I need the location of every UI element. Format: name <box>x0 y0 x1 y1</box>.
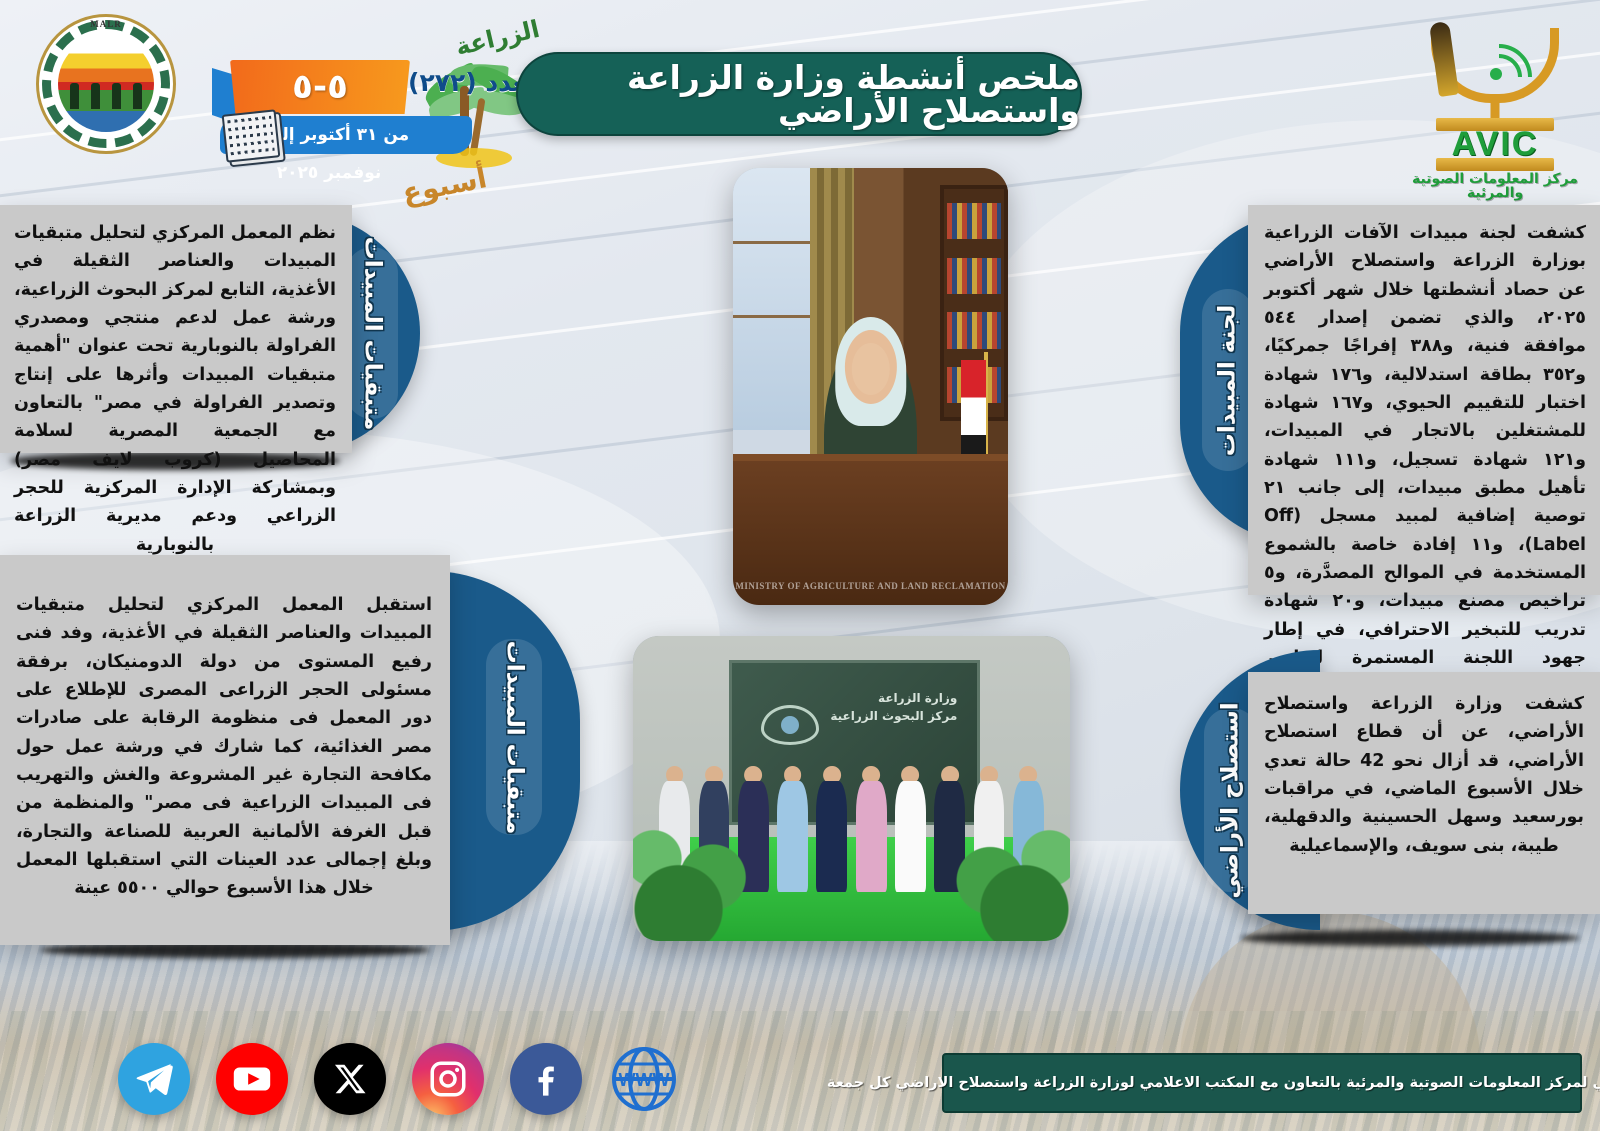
x-twitter-icon[interactable] <box>314 1043 386 1115</box>
card-tab[interactable]: متبقيات المبيدات <box>486 639 542 835</box>
card-tab[interactable]: لجنة المبيدات <box>1202 289 1254 471</box>
social-links: WWW <box>118 1043 680 1115</box>
card-panel: كشفت لجنة مبيدات الآفات الزراعية بوزارة … <box>1248 205 1600 595</box>
footer-bar: اصدار اسبوعي لمركز المعلومات الصوتية وال… <box>942 1053 1582 1113</box>
card-pesticides-committee: لجنة المبيدات كشفت لجنة مبيدات الآفات ال… <box>1180 205 1600 605</box>
telegram-icon[interactable] <box>118 1043 190 1115</box>
card-body-text: استقبل المعمل المركزي لتحليل متبقيات الم… <box>16 591 432 903</box>
card-panel: استقبل المعمل المركزي لتحليل متبقيات الم… <box>0 555 450 945</box>
issue-number-badge-label: ٥-٥ <box>230 60 410 114</box>
card-tab-label: متبقيات المبيدات <box>361 236 384 430</box>
avic-logo: AVIC مركز المعلومات الصوتية والمرئية <box>1400 6 1590 176</box>
website-icon[interactable]: WWW <box>608 1043 680 1115</box>
photo-minister-caption: MINISTRY OF AGRICULTURE AND LAND RECLAMA… <box>733 580 1008 592</box>
malr-logo-text: MALR <box>90 20 122 29</box>
issue-badge: ٥-٥ العدد (٢٧٢) من ٣١ أكتوبر إلى ٦ نوفمب… <box>172 56 472 161</box>
facebook-icon[interactable] <box>510 1043 582 1115</box>
instagram-icon[interactable] <box>412 1043 484 1115</box>
issue-number-badge: ٥-٥ <box>230 60 410 114</box>
svg-text:WWW: WWW <box>619 1070 670 1090</box>
card-panel: نظم المعمل المركزي لتحليل متبقيات المبيد… <box>0 205 352 453</box>
card-land-reclamation: استصلاح الأراضي كشفت وزارة الزراعة واستص… <box>1180 650 1600 940</box>
photo-group-delegation: وزارة الزراعة مركز البحوث الزراعية <box>633 636 1070 941</box>
card-tab-label: استصلاح الأراضي <box>1219 702 1242 898</box>
card-panel: كشفت وزارة الزراعة واستصلاح الأراضي، عن … <box>1248 672 1600 914</box>
footer-text: اصدار اسبوعي لمركز المعلومات الصوتية وال… <box>827 1076 1600 1091</box>
avic-logo-text: AVIC <box>1400 124 1590 164</box>
card-tab-label: متبقيات المبيدات <box>503 640 526 834</box>
arc-eye-logo-icon <box>761 705 819 745</box>
youtube-icon[interactable] <box>216 1043 288 1115</box>
malr-ministry-logo: MALR <box>36 14 176 154</box>
photo-minister-portrait: MINISTRY OF AGRICULTURE AND LAND RECLAMA… <box>733 168 1008 605</box>
avic-logo-subtitle: مركز المعلومات الصوتية والمرئية <box>1400 172 1590 200</box>
page-title-text: ملخص أنشطة وزارة الزراعة واستصلاح الأراض… <box>518 61 1080 127</box>
plaque-line-2: مركز البحوث الزراعية <box>830 707 957 725</box>
card-body-text: كشفت وزارة الزراعة واستصلاح الأراضي، عن … <box>1264 690 1584 860</box>
card-tab[interactable]: متبقيات المبيدات <box>346 247 398 419</box>
card-dominican-delegation-visit: متبقيات المبيدات استقبل المعمل المركزي ل… <box>0 555 580 955</box>
card-body-text: نظم المعمل المركزي لتحليل متبقيات المبيد… <box>14 219 336 559</box>
plaque-line-1: وزارة الزراعة <box>830 689 957 707</box>
palm-word-top: الزراعة <box>453 17 541 60</box>
card-pesticide-residues-workshop: متبقيات المبيدات نظم المعمل المركزي لتحل… <box>0 205 420 465</box>
page-title: ملخص أنشطة وزارة الزراعة واستصلاح الأراض… <box>516 52 1082 136</box>
calendar-icon <box>222 109 281 162</box>
card-tab-label: لجنة المبيدات <box>1217 304 1240 456</box>
